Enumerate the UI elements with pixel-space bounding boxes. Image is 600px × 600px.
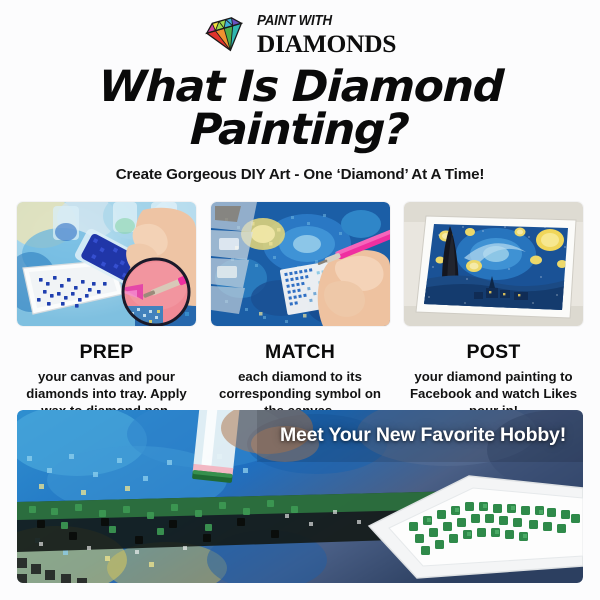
logo-line-paint-with: PAINT WITH — [257, 14, 385, 29]
step-prep-title: PREP — [17, 341, 196, 364]
step-match-title: MATCH — [211, 341, 390, 364]
page-subtitle: Create Gorgeous DIY Art - One ‘Diamond’ … — [0, 166, 600, 183]
step-prep: PREP your canvas and pour diamonds into … — [17, 202, 196, 420]
step-prep-photo[interactable] — [17, 202, 196, 326]
step-post: POST your diamond painting to Facebook a… — [404, 202, 583, 420]
step-match-photo[interactable] — [211, 202, 390, 326]
step-post-photo[interactable] — [404, 202, 583, 326]
steps-row: PREP your canvas and pour diamonds into … — [0, 202, 600, 420]
banner-caption: Meet Your New Favorite Hobby! — [280, 424, 566, 447]
logo-line-diamonds: DIAMONDS — [257, 31, 396, 57]
logo-wordmark: PAINT WITH DIAMONDS — [257, 14, 396, 56]
diamond-gem-icon — [204, 16, 248, 54]
hobby-banner[interactable]: Meet Your New Favorite Hobby! — [17, 410, 583, 583]
step-post-title: POST — [404, 341, 583, 364]
page-title: What Is Diamond Painting? — [0, 66, 600, 152]
site-logo[interactable]: PAINT WITH DIAMONDS — [0, 0, 600, 62]
step-match: MATCH each diamond to its corresponding … — [211, 202, 390, 420]
